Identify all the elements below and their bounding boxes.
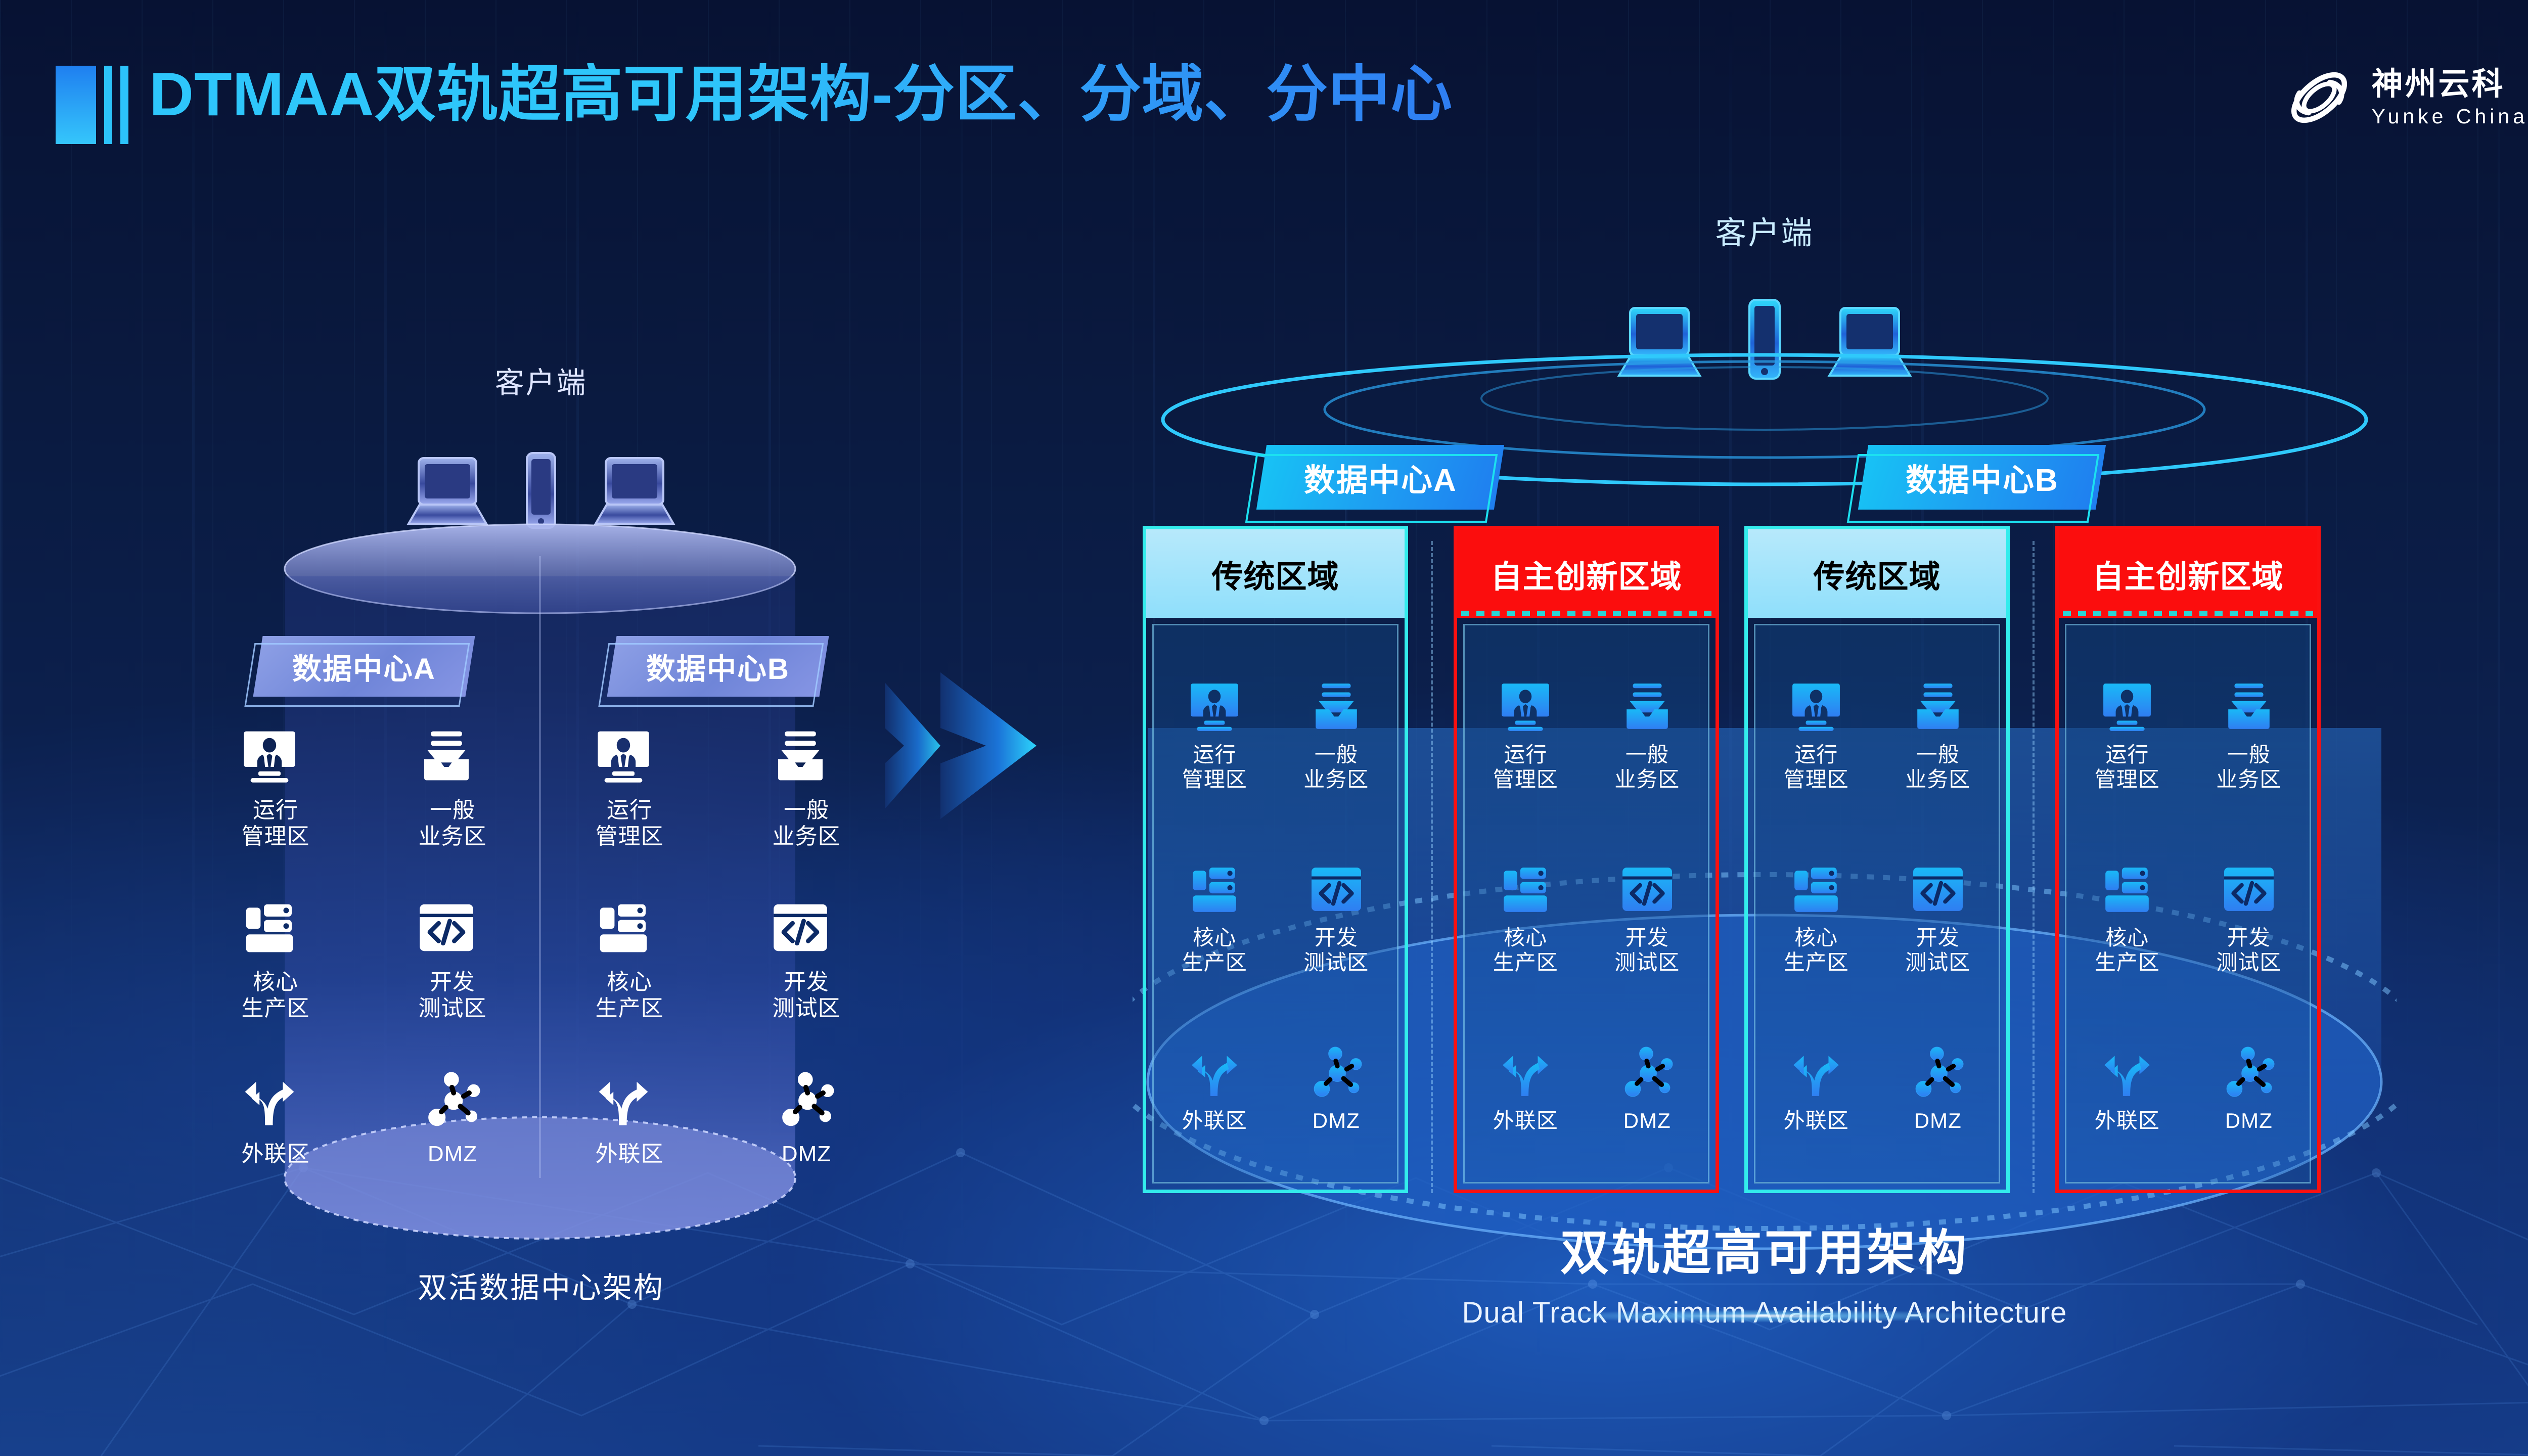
code-window-icon — [1311, 863, 1362, 915]
network-node-icon — [1621, 1046, 1673, 1098]
brand-name-cn: 神州云科 — [2371, 69, 2528, 100]
left-zone-label: 一般业务区 — [419, 797, 487, 850]
right-banner-datacenter-a[interactable]: 数据中心A — [1256, 445, 1504, 510]
network-node-icon — [1311, 1046, 1362, 1098]
zone-item-label: 开发测试区 — [2216, 925, 2281, 975]
left-zone-label: 核心生产区 — [596, 969, 664, 1022]
left-client-label: 客户端 — [187, 359, 895, 401]
monitor-user-icon — [1790, 680, 1842, 732]
left-banner-datacenter-b[interactable]: 数据中心B — [607, 636, 829, 697]
left-zone-stack-4: 一般业务区 开发测试区 DMZ — [718, 728, 895, 1244]
left-zone-grid: 运行管理区 核心生产区 外联区 一般业务区 开发测试区 DMZ 运行管理区 — [187, 728, 895, 1244]
zone-item[interactable]: 外联区 — [2066, 1046, 2188, 1133]
left-zone-label: 运行管理区 — [596, 797, 664, 850]
left-zone-label: DMZ — [425, 1141, 480, 1167]
zone-item-label: DMZ — [1313, 1108, 1360, 1133]
network-node-icon — [2223, 1046, 2275, 1098]
server-stack-icon — [1500, 863, 1551, 915]
arrows-split-icon — [1500, 1046, 1551, 1098]
network-node-icon — [425, 1072, 480, 1127]
inbox-tray-icon — [1912, 680, 1964, 732]
zone-item[interactable]: 核心生产区 — [1755, 863, 1877, 975]
left-zone-stack-1: 运行管理区 核心生产区 外联区 — [187, 728, 364, 1244]
zone-item-label: 外联区 — [1493, 1108, 1558, 1133]
zone-item-label: 外联区 — [1784, 1108, 1849, 1133]
zone-dc-a-innovation[interactable]: 自主创新区域 运行管理区 一般业务区 核心生产区 — [1454, 526, 1719, 1193]
zone-row: 运行管理区 一般业务区 — [2066, 680, 2310, 792]
caption-glow — [1537, 1309, 1992, 1323]
monitor-user-icon — [1189, 680, 1240, 732]
code-window-icon — [1621, 863, 1673, 915]
arrows-split-icon — [596, 1072, 651, 1127]
zone-row: 核心生产区 开发测试区 — [1755, 863, 1999, 975]
zone-item-label: 运行管理区 — [1182, 742, 1247, 792]
inbox-tray-icon — [2223, 680, 2275, 732]
zone-item[interactable]: 核心生产区 — [1465, 863, 1587, 975]
zone-item[interactable]: 运行管理区 — [1755, 680, 1877, 792]
server-stack-icon — [242, 900, 297, 955]
zone-title: 传统区域 — [1748, 529, 2006, 618]
zone-item-label: 一般业务区 — [1303, 742, 1369, 792]
zone-row: 核心生产区 开发测试区 — [2066, 863, 2310, 975]
zone-item[interactable]: 一般业务区 — [1587, 680, 1708, 792]
zone-separator — [2033, 541, 2035, 1193]
left-architecture-diagram: 客户端 数据中心A — [187, 354, 895, 1264]
server-stack-icon — [596, 900, 651, 955]
zone-item[interactable]: 运行管理区 — [1465, 680, 1587, 792]
left-zone-label: 外联区 — [596, 1141, 664, 1167]
zone-item[interactable]: DMZ — [2188, 1046, 2310, 1133]
zone-item-label: 运行管理区 — [2095, 742, 2160, 792]
zone-item-label: 外联区 — [1182, 1108, 1247, 1133]
zone-item-label: 一般业务区 — [1614, 742, 1680, 792]
monitor-user-icon — [1500, 680, 1551, 732]
zone-item-label: 运行管理区 — [1493, 742, 1558, 792]
phone-icon — [523, 450, 559, 531]
left-banner-b-label: 数据中心B — [646, 645, 790, 688]
right-banner-b-label: 数据中心B — [1906, 454, 2059, 500]
network-node-icon — [779, 1072, 834, 1127]
zone-item[interactable]: 一般业务区 — [1877, 680, 1999, 792]
accent-bar-1 — [56, 66, 96, 144]
zone-item[interactable]: 开发测试区 — [1877, 863, 1999, 975]
code-window-icon — [419, 900, 474, 955]
left-zone-stack-3: 运行管理区 核心生产区 外联区 — [541, 728, 718, 1244]
arrows-split-icon — [242, 1072, 297, 1127]
left-zone-label: 核心生产区 — [242, 969, 310, 1022]
zone-item[interactable]: DMZ — [1877, 1046, 1999, 1133]
zone-item[interactable]: 核心生产区 — [2066, 863, 2188, 975]
left-zone-label: DMZ — [779, 1141, 834, 1167]
zone-item-label: 开发测试区 — [1905, 925, 1970, 975]
zone-item-label: 一般业务区 — [1905, 742, 1970, 792]
monitor-user-icon — [242, 728, 297, 784]
slide-header: DTMAA双轨超高可用架构-分区、分域、分中心 神州云科 Yunke China — [0, 0, 2528, 182]
zone-title: 传统区域 — [1146, 529, 1405, 618]
zone-item-label: 核心生产区 — [2095, 925, 2160, 975]
arrows-split-icon — [2101, 1046, 2153, 1098]
zone-item-label: 开发测试区 — [1614, 925, 1680, 975]
zone-item[interactable]: 外联区 — [1465, 1046, 1587, 1133]
network-node-icon — [1912, 1046, 1964, 1098]
zone-item[interactable]: 开发测试区 — [2188, 863, 2310, 975]
zone-item-label: 一般业务区 — [2216, 742, 2281, 792]
arrows-split-icon — [1790, 1046, 1842, 1098]
monitor-user-icon — [2101, 680, 2153, 732]
zone-item[interactable]: 运行管理区 — [2066, 680, 2188, 792]
left-zone-label: 运行管理区 — [242, 797, 310, 850]
left-column-datacenter-b: 运行管理区 核心生产区 外联区 一般业务区 开发测试区 DMZ — [541, 728, 895, 1244]
code-window-icon — [2223, 863, 2275, 915]
zone-separator — [1431, 541, 1433, 1193]
caption-cn: 双轨超高可用架构 — [1082, 1213, 2447, 1284]
zone-row: 外联区 DMZ — [1154, 1046, 1397, 1133]
left-client-devices — [187, 420, 895, 531]
left-zone-label: 开发测试区 — [773, 969, 841, 1022]
left-zone-stack-2: 一般业务区 开发测试区 DMZ — [364, 728, 541, 1244]
inbox-tray-icon — [419, 728, 474, 784]
right-zone-columns: 传统区域 运行管理区 一般业务区 核心生产区 — [1082, 526, 2447, 1193]
zone-content: 运行管理区 一般业务区 核心生产区 开发测试区 — [1754, 624, 2000, 1184]
right-banner-datacenter-b[interactable]: 数据中心B — [1858, 445, 2106, 510]
left-datacenter-banners: 数据中心A 数据中心B — [187, 636, 895, 707]
zone-item-label: DMZ — [1623, 1108, 1671, 1133]
zone-dc-a-traditional[interactable]: 传统区域 运行管理区 一般业务区 核心生产区 — [1143, 526, 1408, 1193]
zone-row: 运行管理区 一般业务区 — [1154, 680, 1397, 792]
double-chevron-right-icon — [880, 662, 1047, 829]
inbox-tray-icon — [1311, 680, 1362, 732]
zone-item[interactable]: 运行管理区 — [1154, 680, 1276, 792]
zone-content: 运行管理区 一般业务区 核心生产区 开发测试区 — [1463, 624, 1709, 1184]
right-architecture-diagram: 客户端 数据中心A 数据中心B — [1082, 192, 2447, 1304]
title-accent-bars — [56, 66, 128, 144]
zone-item-label: DMZ — [1914, 1108, 1962, 1133]
server-stack-icon — [1790, 863, 1842, 915]
zone-item-label: 核心生产区 — [1493, 925, 1558, 975]
zone-content: 运行管理区 一般业务区 核心生产区 开发测试区 — [2065, 624, 2311, 1184]
zone-item-label: 开发测试区 — [1303, 925, 1369, 975]
zone-dc-b-innovation[interactable]: 自主创新区域 运行管理区 一般业务区 核心生产区 — [2055, 526, 2321, 1193]
left-banner-datacenter-a[interactable]: 数据中心A — [253, 636, 475, 697]
code-window-icon — [1912, 863, 1964, 915]
zone-title: 自主创新区域 — [1457, 529, 1716, 618]
zone-content: 运行管理区 一般业务区 核心生产区 开发测试区 — [1152, 624, 1398, 1184]
zone-item[interactable]: 开发测试区 — [1587, 863, 1708, 975]
laptop-icon — [404, 455, 490, 531]
right-datacenter-banners: 数据中心A 数据中心B — [1082, 445, 2447, 526]
zone-row: 核心生产区 开发测试区 — [1154, 863, 1397, 975]
zone-dc-b-traditional[interactable]: 传统区域 运行管理区 一般业务区 核心生产区 — [1744, 526, 2010, 1193]
zone-item[interactable]: 外联区 — [1154, 1046, 1276, 1133]
brand-name-en: Yunke China — [2371, 106, 2528, 127]
zone-row: 外联区 DMZ — [2066, 1046, 2310, 1133]
right-client-label: 客户端 — [1082, 207, 2447, 253]
left-diagram-caption: 双活数据中心架构 — [187, 1264, 895, 1306]
inbox-tray-icon — [1621, 680, 1673, 732]
arrows-split-icon — [1189, 1046, 1240, 1098]
laptop-icon — [592, 455, 678, 531]
zone-row: 运行管理区 一般业务区 — [1465, 680, 1708, 792]
zone-item[interactable]: DMZ — [1276, 1046, 1397, 1133]
zone-row: 外联区 DMZ — [1755, 1046, 1999, 1133]
zone-item-label: 运行管理区 — [1784, 742, 1849, 792]
accent-bar-3 — [120, 66, 128, 144]
zone-row: 外联区 DMZ — [1465, 1046, 1708, 1133]
left-zone-label: 外联区 — [242, 1141, 310, 1167]
inbox-tray-icon — [773, 728, 828, 784]
zone-item-label: 外联区 — [2095, 1108, 2160, 1133]
left-zone-label: 一般业务区 — [773, 797, 841, 850]
zone-item[interactable]: DMZ — [1587, 1046, 1708, 1133]
page-title: DTMAA双轨超高可用架构-分区、分域、分中心 — [149, 63, 1453, 125]
zone-item[interactable]: 一般业务区 — [2188, 680, 2310, 792]
zone-row: 运行管理区 一般业务区 — [1755, 680, 1999, 792]
brand-logo: 神州云科 Yunke China — [2281, 60, 2528, 135]
zone-title: 自主创新区域 — [2059, 529, 2317, 618]
left-column-datacenter-a: 运行管理区 核心生产区 外联区 一般业务区 开发测试区 DMZ — [187, 728, 541, 1244]
accent-bar-2 — [104, 66, 112, 144]
zone-row: 核心生产区 开发测试区 — [1465, 863, 1708, 975]
zone-item-label: 核心生产区 — [1182, 925, 1247, 975]
right-banner-a-label: 数据中心A — [1304, 454, 1457, 500]
left-zone-label: 开发测试区 — [419, 969, 487, 1022]
zone-item-label: DMZ — [2225, 1108, 2273, 1133]
server-stack-icon — [1189, 863, 1240, 915]
monitor-user-icon — [596, 728, 651, 784]
zone-item[interactable]: 核心生产区 — [1154, 863, 1276, 975]
zone-item-label: 核心生产区 — [1784, 925, 1849, 975]
zone-item[interactable]: 一般业务区 — [1276, 680, 1397, 792]
zone-item[interactable]: 开发测试区 — [1276, 863, 1397, 975]
left-banner-a-label: 数据中心A — [292, 645, 436, 688]
code-window-icon — [773, 900, 828, 955]
zone-item[interactable]: 外联区 — [1755, 1046, 1877, 1133]
server-stack-icon — [2101, 863, 2153, 915]
yunke-swirl-icon — [2281, 60, 2357, 135]
